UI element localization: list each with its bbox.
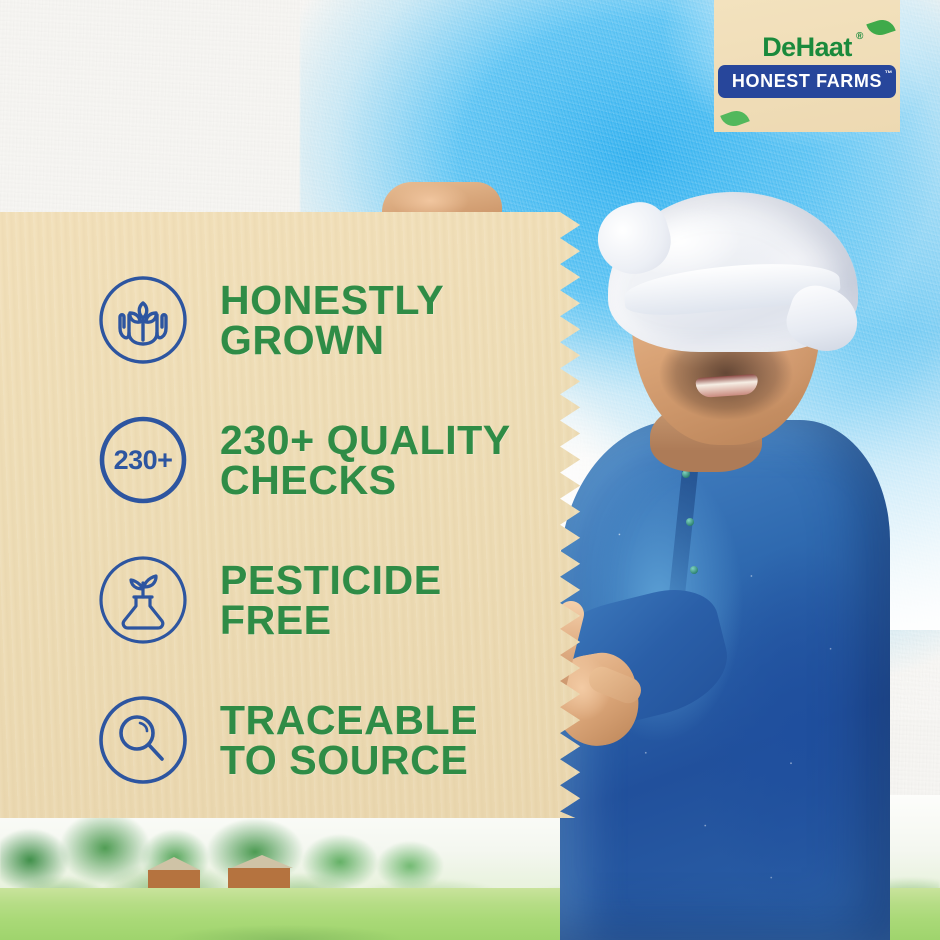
brand-tagline-banner: HONEST FARMS ™ [718, 65, 896, 98]
flask-with-sprout-icon [96, 553, 190, 647]
feature-label-line: PESTICIDE [220, 560, 442, 600]
brand-tagline-text: HONEST FARMS [732, 71, 882, 91]
feature-item-pesticide-free: PESTICIDE FREE [96, 530, 566, 670]
leaf-icon [720, 107, 750, 130]
feature-panel: HONESTLY GROWN 230+ 230+ QUALITY CHECKS [0, 212, 592, 818]
leaf-icon [866, 16, 895, 38]
registered-trademark-symbol: ® [856, 32, 863, 42]
feature-item-quality-checks: 230+ 230+ QUALITY CHECKS [96, 390, 566, 530]
feature-label-line: GROWN [220, 320, 444, 360]
feature-label-line: 230+ QUALITY [220, 420, 511, 460]
feature-label-line: TO SOURCE [220, 740, 478, 780]
feature-label: PESTICIDE FREE [220, 560, 442, 640]
feature-label: HONESTLY GROWN [220, 280, 444, 360]
magnifying-glass-icon [96, 693, 190, 787]
feature-label: TRACEABLE TO SOURCE [220, 700, 478, 780]
feature-label-line: TRACEABLE [220, 700, 478, 740]
trademark-symbol: ™ [885, 70, 894, 78]
village-hut-roof [148, 857, 200, 870]
brand-logo: DeHaat ® HONEST FARMS ™ [714, 0, 900, 132]
village-hut-roof [231, 855, 293, 868]
field-path [120, 906, 450, 940]
feature-label-line: FREE [220, 600, 442, 640]
quality-checks-badge-icon: 230+ [96, 413, 190, 507]
beard [640, 338, 812, 456]
feature-item-honestly-grown: HONESTLY GROWN [96, 250, 566, 390]
feature-item-traceable-to-source: TRACEABLE TO SOURCE [96, 670, 566, 810]
feature-label: 230+ QUALITY CHECKS [220, 420, 511, 500]
hands-holding-plant-icon [96, 273, 190, 367]
feature-label-line: CHECKS [220, 460, 511, 500]
brand-name-text: DeHaat [762, 32, 851, 62]
quality-checks-count: 230+ [96, 413, 190, 507]
feature-list: HONESTLY GROWN 230+ 230+ QUALITY CHECKS [96, 250, 566, 810]
kurta-button [690, 566, 698, 574]
advertisement-poster: HONESTLY GROWN 230+ 230+ QUALITY CHECKS [0, 0, 940, 940]
kurta-button [686, 518, 694, 526]
feature-label-line: HONESTLY [220, 280, 444, 320]
brand-name: DeHaat ® [762, 34, 851, 61]
